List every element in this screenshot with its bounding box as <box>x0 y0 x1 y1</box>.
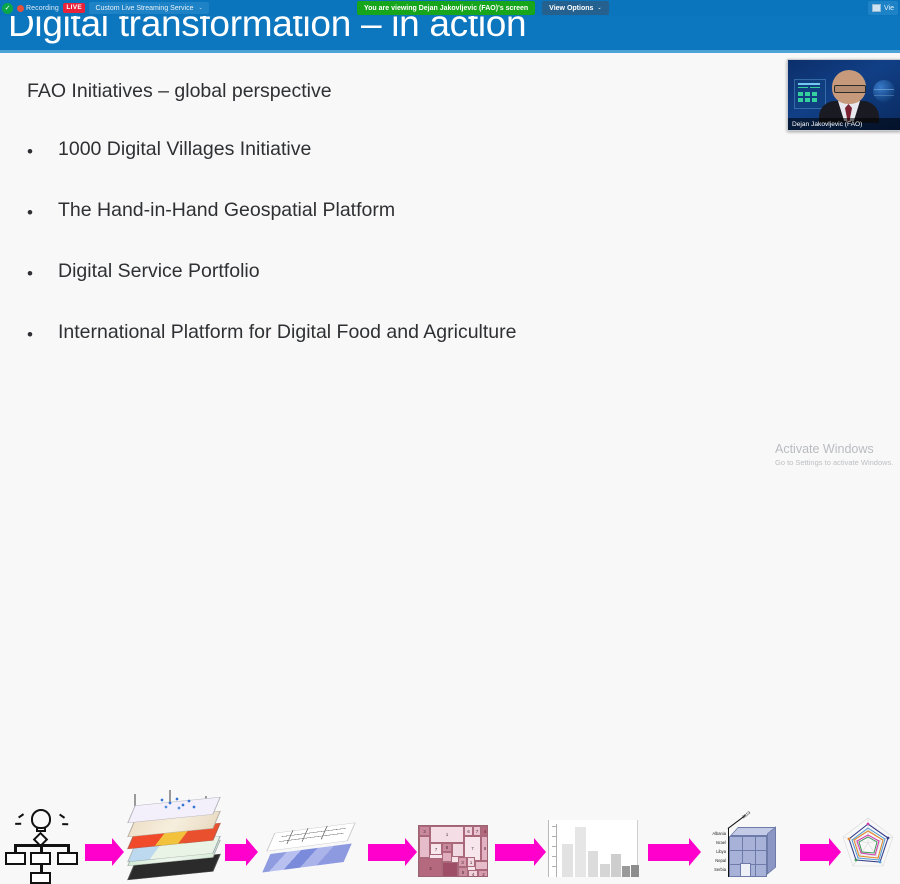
recording-indicator[interactable]: Recording <box>17 5 59 12</box>
list-item: • International Platform for Digital Foo… <box>27 323 787 384</box>
streaming-service-label: Custom Live Streaming Service <box>95 5 193 12</box>
bar <box>622 866 630 877</box>
gis-layer-stack-icon <box>120 788 224 877</box>
map-layers-icon <box>255 817 365 877</box>
toolbar-center-group: You are viewing Dejan Jakovljevic (FAO)'… <box>357 1 609 15</box>
map-cell: 5 <box>458 867 468 877</box>
map-cell <box>442 852 452 862</box>
zoom-meeting-toolbar: ✓ Recording LIVE Custom Live Streaming S… <box>0 0 900 16</box>
bullet-text: Digital Service Portfolio <box>58 262 260 282</box>
bar <box>631 865 639 877</box>
bullet-marker-icon: • <box>27 323 58 343</box>
bullet-marker-icon: • <box>27 262 58 282</box>
map-cell: 1 <box>430 826 464 843</box>
participant-video-thumbnail[interactable]: Dejan Jakovljevic (FAO) <box>787 59 900 131</box>
toolbar-right-group[interactable]: Vie <box>868 1 898 15</box>
map-cell: 4 <box>481 826 488 836</box>
process-flow-graphic: 3 1 6 7 4 7 8 7 8 2 3 1 5 4 2 <box>0 392 900 485</box>
bar <box>588 851 598 877</box>
globe-graphic-icon <box>873 80 895 102</box>
map-cell <box>452 843 464 857</box>
map-cell: 7 <box>473 826 481 836</box>
recording-label: Recording <box>26 5 59 12</box>
view-label: Vie <box>884 5 894 12</box>
toolbar-left-group: ✓ Recording LIVE Custom Live Streaming S… <box>2 0 209 16</box>
bar <box>575 827 586 877</box>
bullet-list: • 1000 Digital Villages Initiative • The… <box>27 140 787 384</box>
map-cell <box>419 836 430 858</box>
map-cell: 8 <box>442 843 452 852</box>
map-cell: 3 <box>458 857 467 867</box>
map-cell: 6 <box>464 826 473 836</box>
map-cell: 4 <box>468 870 478 877</box>
radar-svg <box>836 810 900 877</box>
radar-chart-icon <box>836 810 900 877</box>
participant-name-label: Dejan Jakovljevic (FAO) <box>788 118 900 130</box>
flow-arrow <box>648 844 690 861</box>
bar-chart-icon <box>548 820 638 877</box>
cube-row-label: Albania <box>703 831 726 836</box>
chevron-down-icon: ⌄ <box>597 5 601 11</box>
cube-row-label: Libya <box>703 849 726 854</box>
cube-row-label: Nepal <box>703 858 726 863</box>
map-cell: 8 <box>481 836 488 861</box>
map-cell: 1 <box>467 857 475 867</box>
bullet-text: 1000 Digital Villages Initiative <box>58 140 311 160</box>
choropleth-map-icon: 3 1 6 7 4 7 8 7 8 2 3 1 5 4 2 <box>418 825 488 877</box>
cube-row-label: Israel <box>703 840 726 845</box>
screen-share-banner: You are viewing Dejan Jakovljevic (FAO)'… <box>357 1 535 15</box>
streaming-service-dropdown[interactable]: Custom Live Streaming Service ⌄ <box>89 2 208 14</box>
live-badge: LIVE <box>63 3 86 13</box>
list-item: • 1000 Digital Villages Initiative <box>27 140 787 201</box>
shield-check-icon[interactable]: ✓ <box>2 3 13 14</box>
flow-arrow <box>495 844 535 861</box>
idea-flowchart-icon <box>4 807 80 877</box>
bullet-marker-icon: • <box>27 140 58 160</box>
gallery-view-icon <box>872 4 881 12</box>
slide-subheading: FAO Initiatives – global perspective <box>27 80 332 103</box>
flow-arrow <box>85 844 113 861</box>
data-cube-icon: Albania Israel Libya Nepal Serbia 2019 <box>703 816 799 877</box>
flow-arrow <box>368 844 406 861</box>
map-cell: 2 <box>478 870 488 877</box>
cube-axis-label: 2019 <box>731 810 752 827</box>
bullet-text: International Platform for Digital Food … <box>58 323 517 343</box>
bar <box>611 854 621 877</box>
person-head <box>832 70 866 104</box>
flow-arrow <box>225 844 247 861</box>
view-options-button[interactable]: View Options ⌄ <box>542 1 608 15</box>
bullet-text: The Hand-in-Hand Geospatial Platform <box>58 201 395 221</box>
record-dot-icon <box>17 5 24 12</box>
bullet-marker-icon: • <box>27 201 58 221</box>
map-cell: 2 <box>419 858 442 877</box>
map-cell: 7 <box>430 843 442 855</box>
list-item: • The Hand-in-Hand Geospatial Platform <box>27 201 787 262</box>
flow-arrow <box>800 844 830 861</box>
bar <box>562 844 573 877</box>
bar <box>600 864 610 877</box>
view-options-label: View Options <box>549 5 593 12</box>
map-cell <box>442 862 458 877</box>
map-cell: 3 <box>419 826 430 836</box>
cube-row-label: Serbia <box>703 867 726 872</box>
screen-graphic <box>794 79 826 109</box>
presentation-slide: Digital transformation – in action FAO I… <box>0 0 900 485</box>
chevron-down-icon: ⌄ <box>199 6 203 11</box>
list-item: • Digital Service Portfolio <box>27 262 787 323</box>
map-cell <box>475 861 488 870</box>
